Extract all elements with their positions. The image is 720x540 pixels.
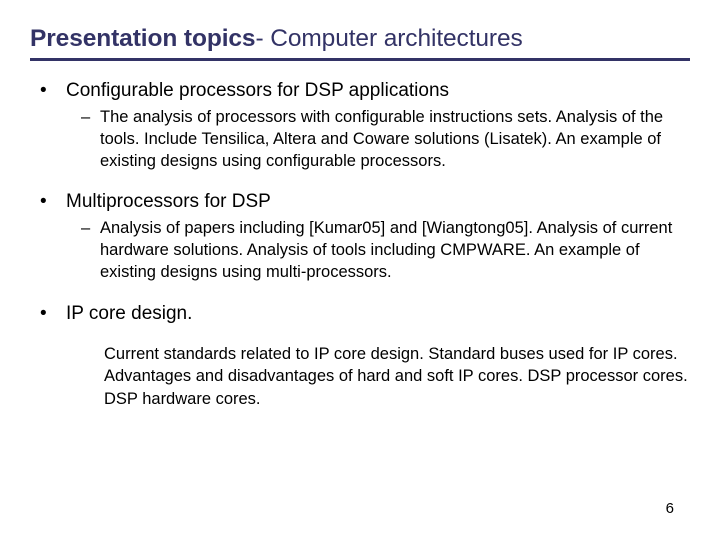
slide-title-block: Presentation topics- Computer architectu…: [30, 24, 692, 61]
bullet-dot-icon: •: [40, 189, 47, 215]
sub-bullet-text: The analysis of processors with configur…: [100, 108, 663, 170]
page-title: Presentation topics- Computer architectu…: [30, 24, 692, 54]
bullet-label: Multiprocessors for DSP: [66, 191, 271, 212]
bullet-label: Configurable processors for DSP applicat…: [66, 80, 449, 101]
bullet-dot-icon: •: [40, 301, 47, 327]
sub-bullet-multiprocessors-detail: – Analysis of papers including [Kumar05]…: [0, 217, 720, 284]
sub-bullet-configurable-processors-detail: – The analysis of processors with config…: [0, 106, 720, 173]
bullet-label: IP core design.: [66, 303, 192, 324]
bullet-item-configurable-processors: • Configurable processors for DSP applic…: [0, 78, 720, 104]
bullet-item-ip-core-design: • IP core design.: [0, 301, 720, 327]
page-title-strong: Presentation topics: [30, 25, 255, 52]
page-number: 6: [666, 500, 674, 518]
slide-body: • Configurable processors for DSP applic…: [0, 78, 720, 410]
spacer: [0, 283, 720, 301]
sub-bullet-ip-core-design-detail: Current standards related to IP core des…: [0, 343, 720, 410]
dash-bullet-icon: –: [81, 106, 90, 128]
bullet-dot-icon: •: [40, 78, 47, 104]
presentation-slide: Presentation topics- Computer architectu…: [0, 0, 720, 540]
spacer: [0, 173, 720, 189]
dash-bullet-icon: –: [81, 217, 90, 239]
title-underline-rule: [30, 58, 690, 61]
sub-bullet-text: Analysis of papers including [Kumar05] a…: [100, 219, 672, 281]
page-title-light: - Computer architectures: [255, 25, 522, 52]
sub-bullet-text: Current standards related to IP core des…: [104, 345, 688, 407]
bullet-item-multiprocessors: • Multiprocessors for DSP: [0, 189, 720, 215]
spacer: [0, 329, 720, 343]
